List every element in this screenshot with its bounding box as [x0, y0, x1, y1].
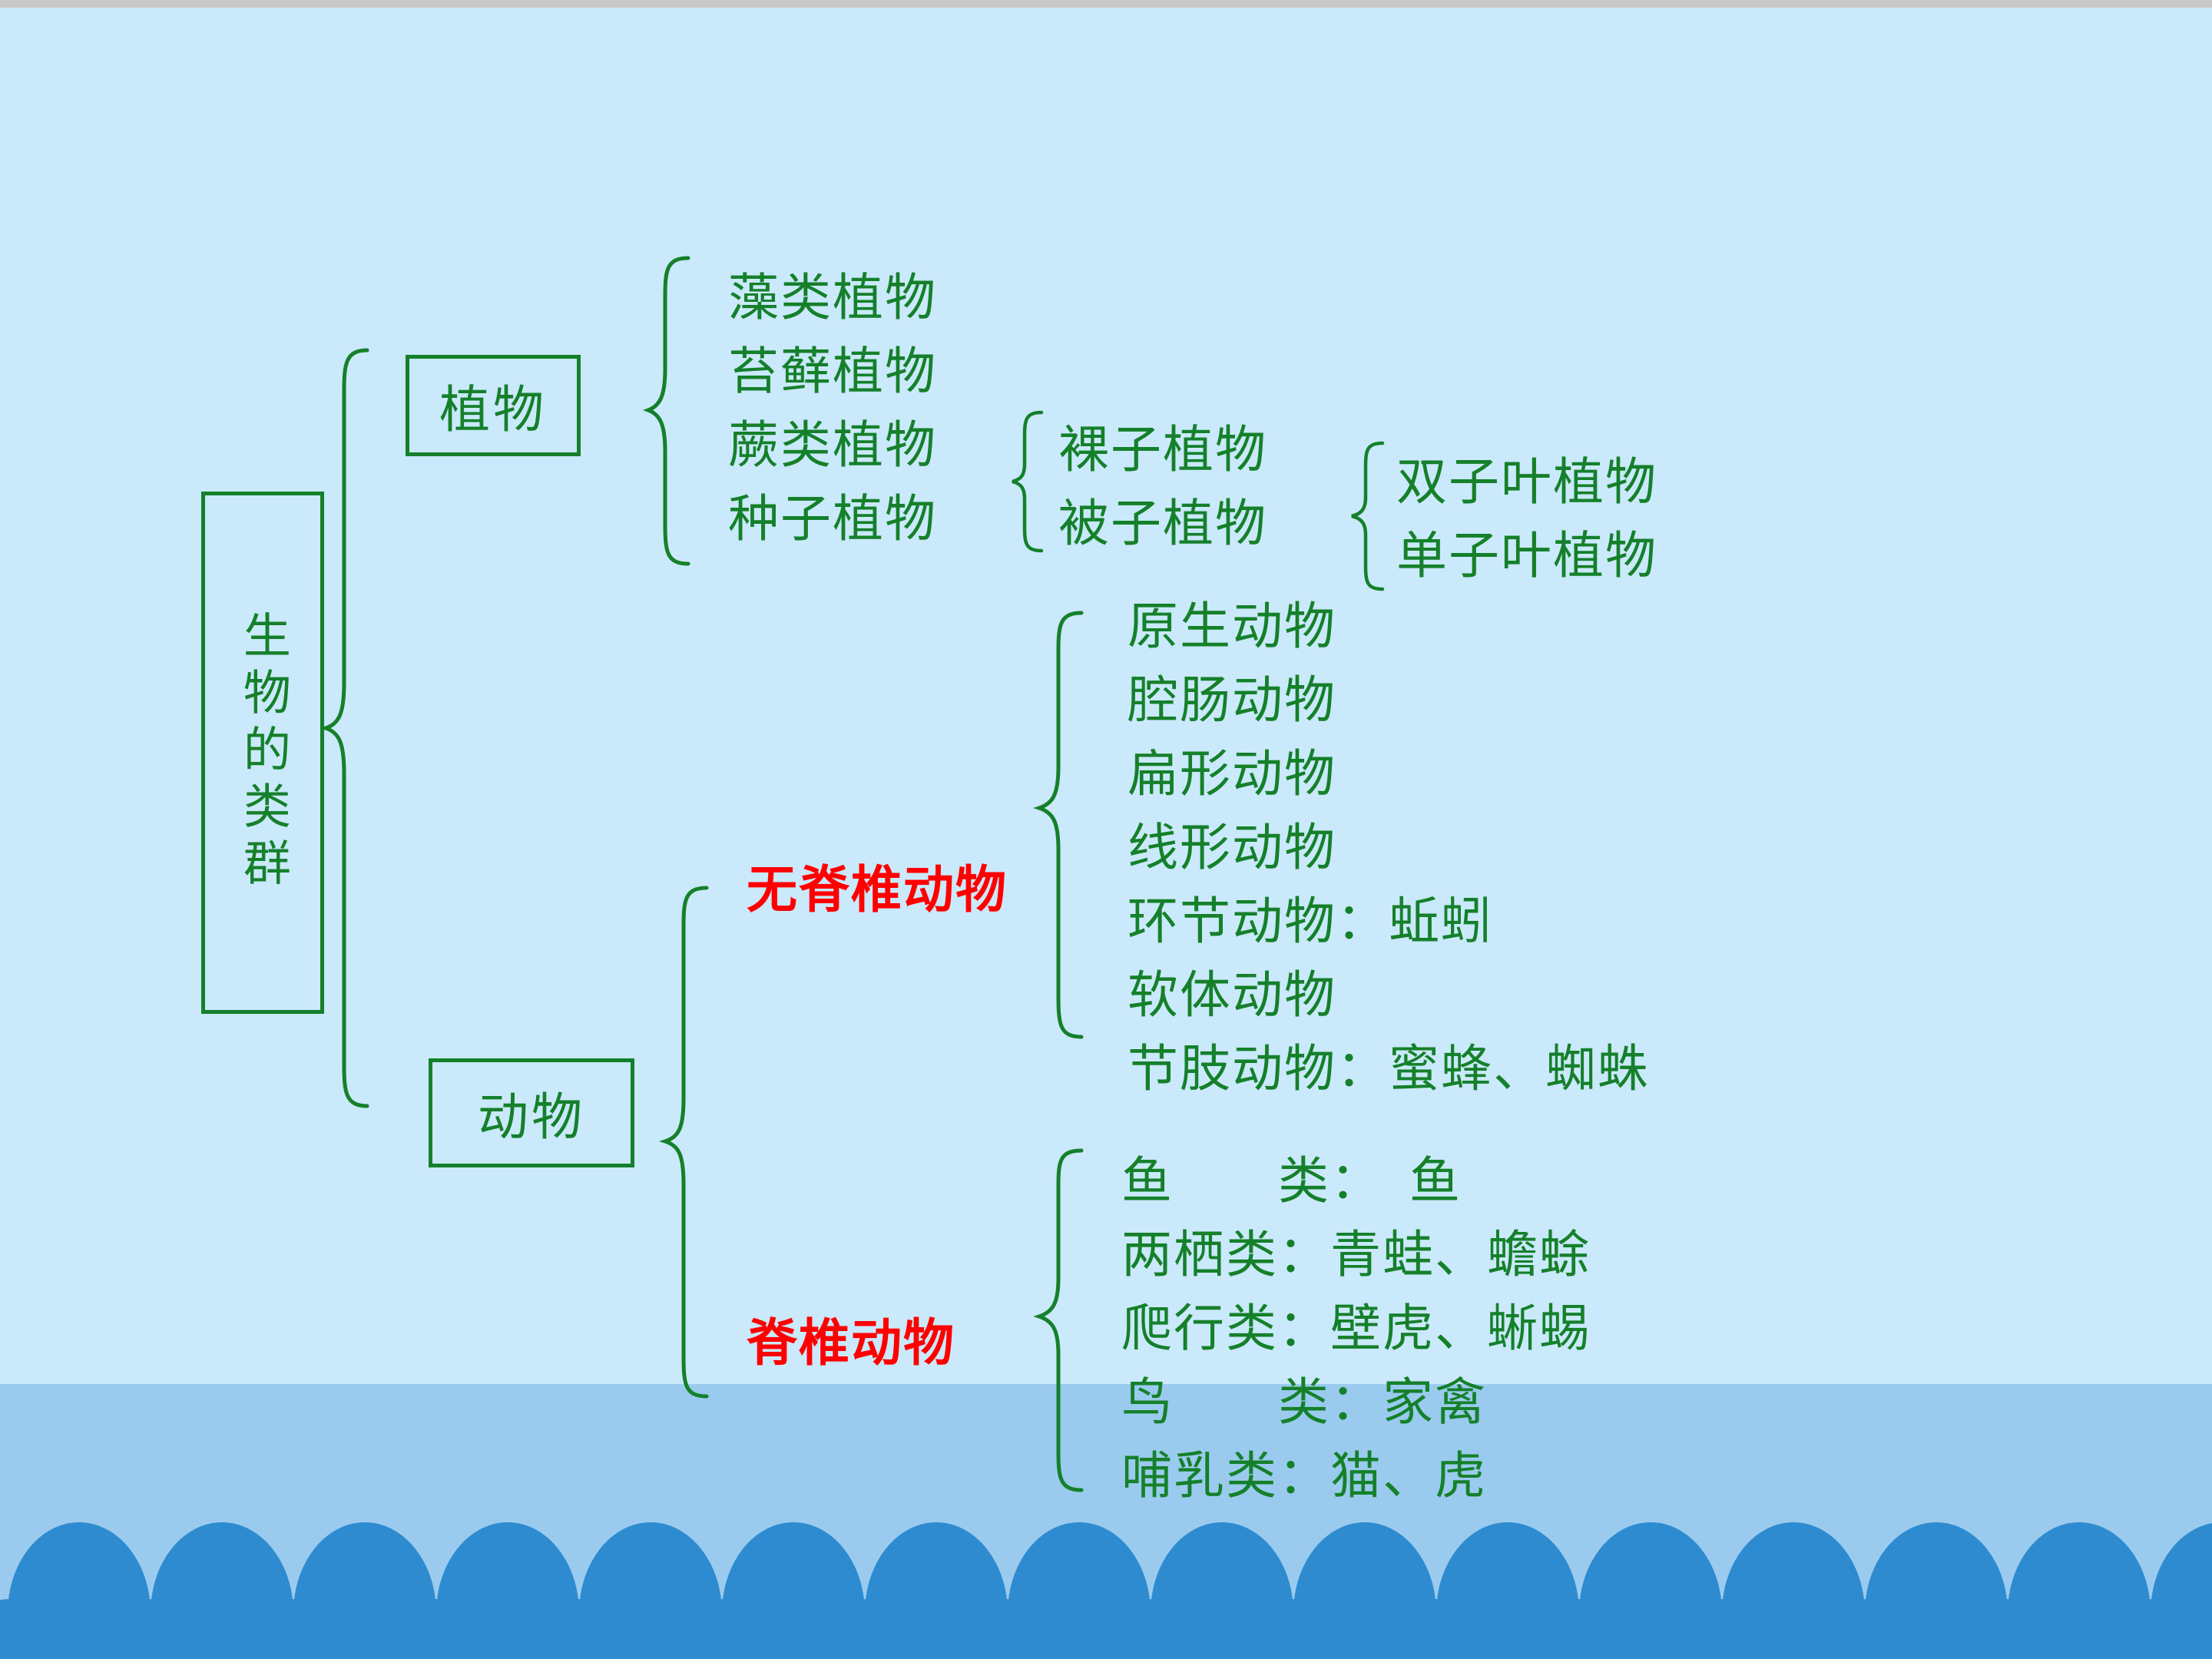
plant-brace [645, 253, 699, 576]
decor-dot [796, 1599, 939, 1659]
angiosperm-sub-list: 双子叶植物 单子叶植物 [1396, 445, 1657, 593]
plant-node-label: 植物 [439, 369, 547, 442]
decor-dot [81, 1599, 224, 1659]
decor-dot [1081, 1599, 1224, 1659]
vertebrate-group-label: 脊椎动物 [747, 1306, 955, 1379]
slide-canvas: 生物的类群 植物 藻类植物 苔藓植物 蕨类植物 种子植物 裸子植物 被子植物 双… [0, 0, 2212, 1659]
decor-dot [1224, 1599, 1367, 1659]
plant-category-list: 藻类植物 苔藓植物 蕨类植物 种子植物 [728, 261, 937, 556]
angiosperm-brace [1346, 439, 1389, 593]
decor-dot [939, 1599, 1081, 1659]
root-node-box: 生物的类群 [201, 492, 324, 1014]
invertebrate-brace [1035, 608, 1089, 1046]
animal-brace [662, 883, 716, 1406]
decor-dot [367, 1599, 510, 1659]
vertebrate-item-list: 鱼 类： 鱼 两栖类：青蛙、蟾蜍 爬行类：壁虎、蜥蜴 鸟 类：家禽 哺乳类：猫、… [1121, 1144, 1591, 1513]
decorative-dots-row-front [0, 1599, 2181, 1659]
decor-dot [510, 1599, 653, 1659]
decor-dot [1367, 1599, 1510, 1659]
invertebrate-item-list: 原生动物 腔肠动物 扁形动物 线形动物 环节动物：蚯蚓 软体动物 节肢动物：蜜蜂… [1128, 590, 1650, 1106]
decor-dot [1653, 1599, 1796, 1659]
decor-dot [1796, 1599, 1939, 1659]
decor-dot [653, 1599, 796, 1659]
root-brace [323, 346, 376, 1114]
vertebrate-brace [1035, 1146, 1089, 1499]
decor-dot [1939, 1599, 2081, 1659]
seed-plant-sub-list: 裸子植物 被子植物 [1058, 413, 1267, 561]
decor-dot [1510, 1599, 1653, 1659]
decor-dot [224, 1599, 367, 1659]
invertebrate-group-label: 无脊椎动物 [747, 853, 1008, 926]
animal-node-box: 动物 [429, 1058, 634, 1167]
seed-plant-brace [1006, 409, 1049, 555]
plant-node-box: 植物 [406, 355, 581, 456]
root-node-label: 生物的类群 [230, 611, 295, 895]
animal-node-label: 动物 [478, 1076, 585, 1150]
decor-dot [0, 1599, 81, 1659]
